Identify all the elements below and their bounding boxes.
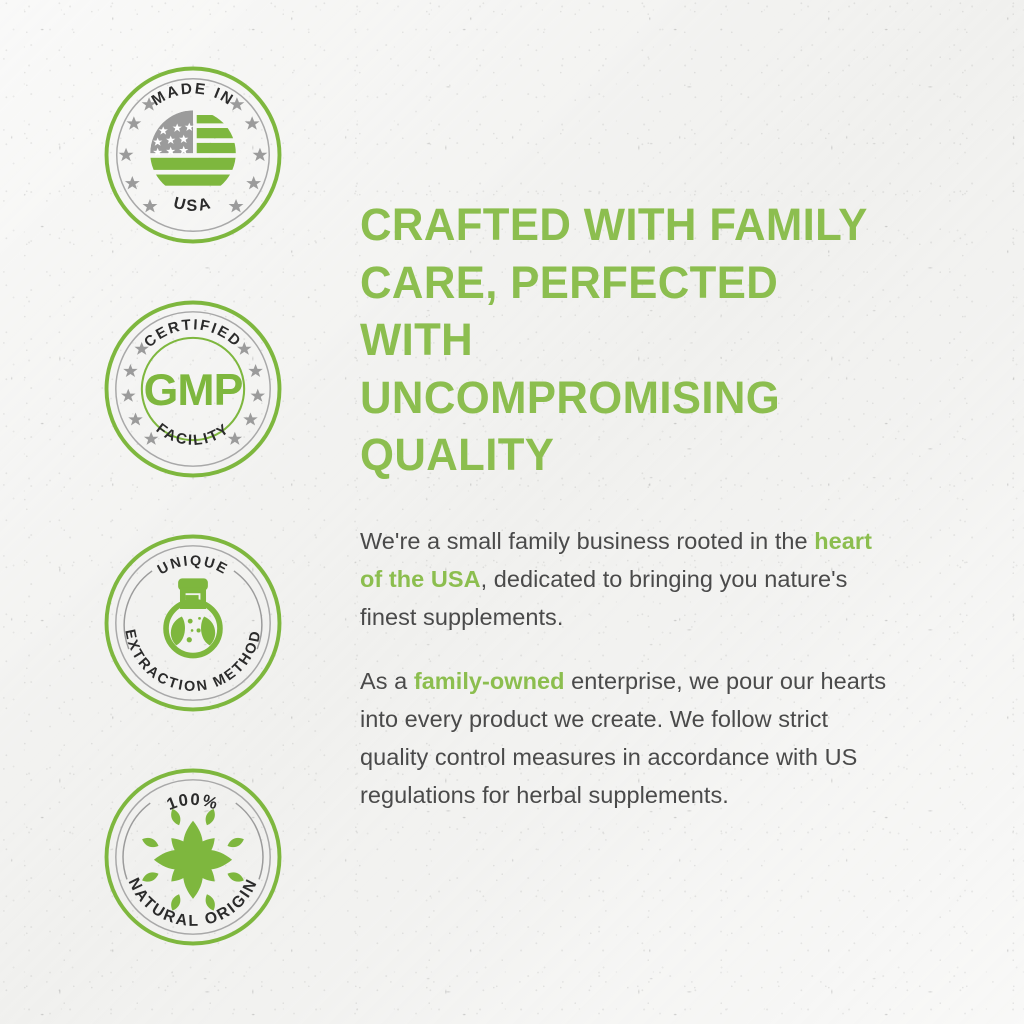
badge-bottom-label: FACILITY [153, 421, 233, 449]
badge-made-in-usa: MADE IN USA [100, 62, 286, 248]
certification-badge-list: MADE IN USA [100, 62, 290, 998]
leaf-rosette-icon [141, 807, 246, 912]
paragraph-two: As a family-owned enterprise, we pour ou… [360, 662, 890, 814]
badge-gmp-certified-facility: GMP CERTIFIED FACILITY [100, 296, 286, 482]
badge-bottom-label: USA [172, 194, 215, 215]
badge-top-label: 100% [164, 790, 221, 814]
paragraph-one-part-1: We're a small family business rooted in … [360, 528, 814, 554]
badge-bottom-label: EXTRACTION METHOD [121, 628, 264, 695]
paragraph-two-highlight: family-owned [414, 668, 565, 694]
content-column: Crafted with family care, perfected with… [360, 196, 920, 840]
flask-with-leaves-icon [166, 578, 220, 655]
badge-natural-origin: 100% NATURAL ORIGIN [100, 764, 286, 950]
paragraph-two-part-1: As a [360, 668, 414, 694]
page-headline: Crafted with family care, perfected with… [360, 196, 903, 484]
badge-unique-extraction-method: UNIQUE EXTRACTION METHOD [100, 530, 286, 716]
usa-flag-circle-icon [150, 110, 239, 196]
paragraph-one: We're a small family business rooted in … [360, 522, 890, 636]
badge-top-label: UNIQUE [155, 553, 231, 578]
badge-top-label: CERTIFIED [142, 317, 245, 351]
promo-page: MADE IN USA [0, 0, 1024, 1024]
gmp-text-icon: GMP [144, 366, 243, 415]
